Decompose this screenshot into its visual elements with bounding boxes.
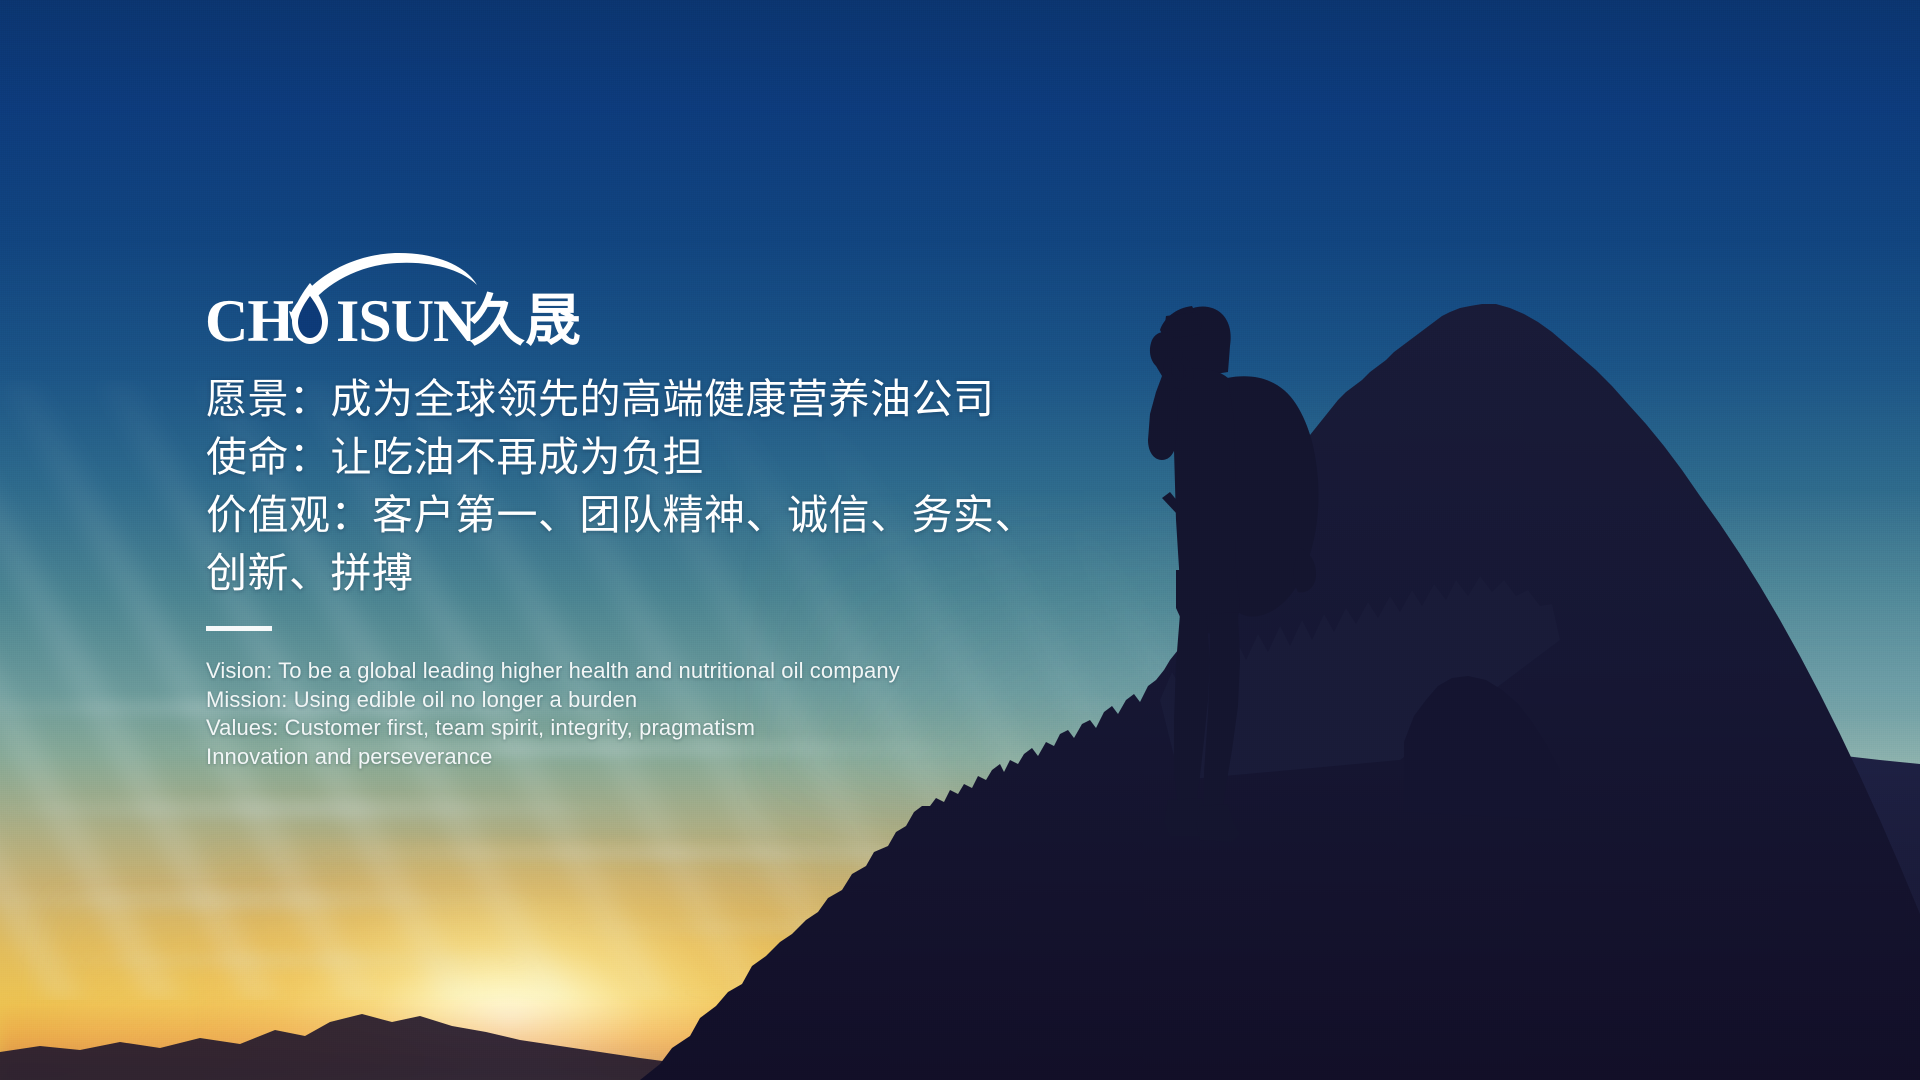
- slide-canvas: CH ISUN 久晟 愿景：成为全球领先的高端健康营养油公司 使命：让吃油不再成…: [0, 0, 1920, 1080]
- film-grain-overlay: [0, 0, 1920, 1080]
